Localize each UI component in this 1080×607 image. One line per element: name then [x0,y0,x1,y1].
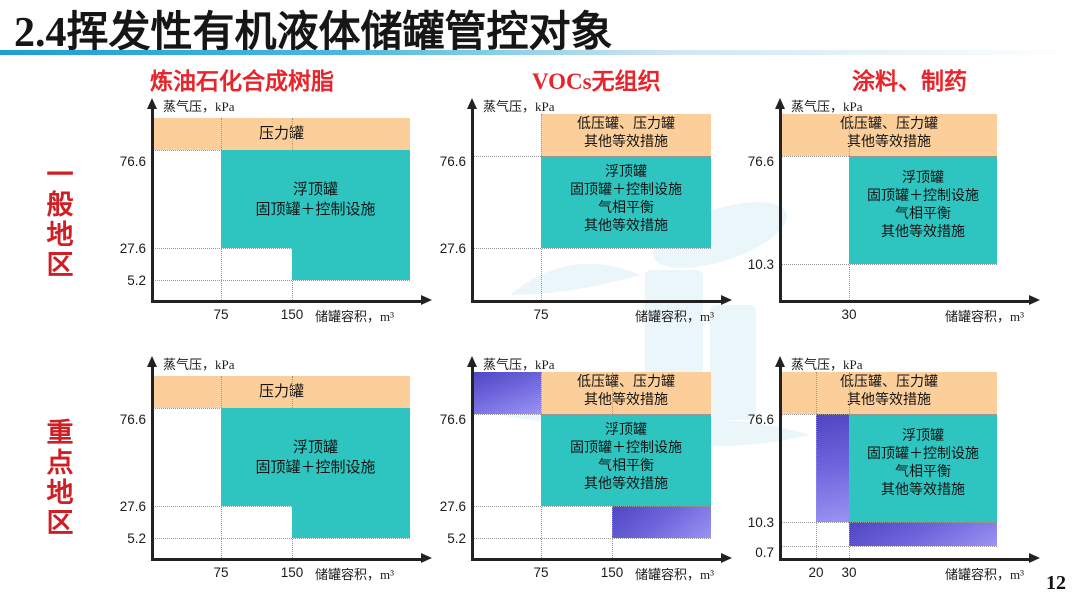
gridline-75 [541,372,542,558]
x-tick-75: 75 [201,565,241,580]
y-axis-arrow-icon [467,356,477,367]
x-axis-arrow-icon [1029,295,1040,305]
y-axis-title: 蒸气压，kPa [791,96,863,115]
row-label-key-area: 重 点 地 区 [38,418,82,538]
region-low-pressure-tank: 低压罐、压力罐 其他等效措施 [541,372,711,414]
y-tick-103: 10.3 [728,257,774,272]
x-axis-title: 储罐容积，m³ [635,564,714,583]
gridline-150 [292,376,293,558]
gridline-75 [541,114,542,300]
gridline-150 [612,372,613,558]
y-tick-766: 76.6 [420,154,466,169]
y-axis [471,366,474,560]
y-tick-276: 27.6 [100,241,146,256]
region-purple-upper-left [473,372,541,414]
y-tick-276: 27.6 [100,499,146,514]
gridline-766 [153,150,410,151]
region-low-pressure-tank: 低压罐、压力罐 其他等效措施 [781,114,997,156]
x-tick-150: 150 [272,307,312,322]
row-label-general-area: 一 般 地 区 [38,160,82,280]
gridline-276 [473,506,711,507]
x-tick-75: 75 [201,307,241,322]
gridline-20 [816,372,817,558]
page-number: 12 [1046,572,1066,595]
x-axis [779,558,1029,561]
region-floating-roof: 浮顶罐 固顶罐＋控制设施 气相平衡 其他等效措施 [541,414,711,506]
y-axis-title: 蒸气压，kPa [483,96,555,115]
y-axis [779,108,782,302]
gridline-103 [781,522,997,523]
y-tick-276: 27.6 [420,241,466,256]
gridline-30 [849,114,850,300]
x-axis-title: 储罐容积，m³ [315,564,394,583]
column-header-refining: 炼油石化合成树脂 [150,62,334,96]
x-axis-arrow-icon [721,295,732,305]
region-low-pressure-tank: 低压罐、压力罐 其他等效措施 [781,372,997,414]
y-axis-title: 蒸气压，kPa [163,96,235,115]
y-axis-arrow-icon [467,98,477,109]
region-floating-roof-lower [292,248,410,280]
y-tick-766: 76.6 [100,154,146,169]
gridline-103 [781,264,997,265]
gridline-30 [849,372,850,558]
x-axis-arrow-icon [1029,553,1040,563]
region-low-pressure-tank: 低压罐、压力罐 其他等效措施 [541,114,711,156]
y-tick-766: 76.6 [728,412,774,427]
row-label-char: 重 [38,418,82,448]
x-axis-arrow-icon [421,553,432,563]
region-floating-roof: 浮顶罐 固顶罐＋控制设施 [221,150,410,248]
row-label-char: 一 [38,160,82,190]
y-axis-arrow-icon [775,98,785,109]
row-label-char: 点 [38,448,82,478]
x-axis-title: 储罐容积，m³ [315,306,394,325]
gridline-75 [221,118,222,300]
gridline-276 [153,248,410,249]
x-tick-150: 150 [592,565,632,580]
region-purple-lower [849,522,997,546]
y-tick-52: 5.2 [100,531,146,546]
x-axis-title: 储罐容积，m³ [945,306,1024,325]
x-tick-150: 150 [272,565,312,580]
y-axis-arrow-icon [147,98,157,109]
gridline-75 [221,376,222,558]
y-tick-103: 10.3 [728,515,774,530]
y-axis [779,366,782,560]
y-tick-766: 76.6 [420,412,466,427]
x-tick-75: 75 [521,307,561,322]
y-axis-title: 蒸气压，kPa [483,354,555,373]
row-label-char: 般 [38,190,82,220]
x-tick-30: 30 [829,565,869,580]
column-header-coating: 涂料、制药 [852,62,967,96]
x-axis-title: 储罐容积，m³ [945,564,1024,583]
region-pressure-tank: 压力罐 [153,118,410,150]
region-floating-roof: 浮顶罐 固顶罐＋控制设施 [221,408,410,506]
gridline-766 [473,414,711,415]
y-tick-52: 5.2 [420,531,466,546]
y-axis [151,108,154,302]
y-tick-07: 0.7 [728,545,774,560]
gridline-52 [473,538,711,539]
y-axis [151,366,154,560]
gridline-766 [473,156,711,157]
y-tick-766: 76.6 [728,154,774,169]
x-axis [151,300,421,303]
row-label-char: 区 [38,508,82,538]
column-header-vocs: VOCs无组织 [532,62,661,96]
x-axis [471,558,721,561]
y-tick-766: 76.6 [100,412,146,427]
region-purple-lower-right [612,506,711,538]
y-tick-52: 5.2 [100,273,146,288]
gridline-150 [292,118,293,300]
x-axis [779,300,1029,303]
gridline-766 [153,408,410,409]
x-tick-75: 75 [521,565,561,580]
gridline-276 [153,506,410,507]
x-axis [471,300,721,303]
title-divider [0,50,1080,55]
row-label-char: 地 [38,220,82,250]
gridline-52 [153,280,410,281]
y-tick-276: 27.6 [420,499,466,514]
y-axis-arrow-icon [147,356,157,367]
row-label-char: 地 [38,478,82,508]
y-axis-title: 蒸气压，kPa [791,354,863,373]
gridline-07 [781,546,997,547]
region-pressure-tank: 压力罐 [153,376,410,408]
gridline-766 [781,414,997,415]
region-floating-roof-lower [292,506,410,538]
x-tick-30: 30 [829,307,869,322]
region-floating-roof: 浮顶罐 固顶罐＋控制设施 气相平衡 其他等效措施 [849,156,997,264]
x-axis-arrow-icon [421,295,432,305]
gridline-766 [781,156,997,157]
region-floating-roof: 浮顶罐 固顶罐＋控制设施 气相平衡 其他等效措施 [541,156,711,248]
row-label-char: 区 [38,250,82,280]
x-axis [151,558,421,561]
region-floating-roof: 浮顶罐 固顶罐＋控制设施 气相平衡 其他等效措施 [849,414,997,522]
gridline-276 [473,248,711,249]
region-purple-column [816,414,849,522]
gridline-52 [153,538,410,539]
y-axis [471,108,474,302]
y-axis-arrow-icon [775,356,785,367]
y-axis-title: 蒸气压，kPa [163,354,235,373]
x-axis-title: 储罐容积，m³ [635,306,714,325]
